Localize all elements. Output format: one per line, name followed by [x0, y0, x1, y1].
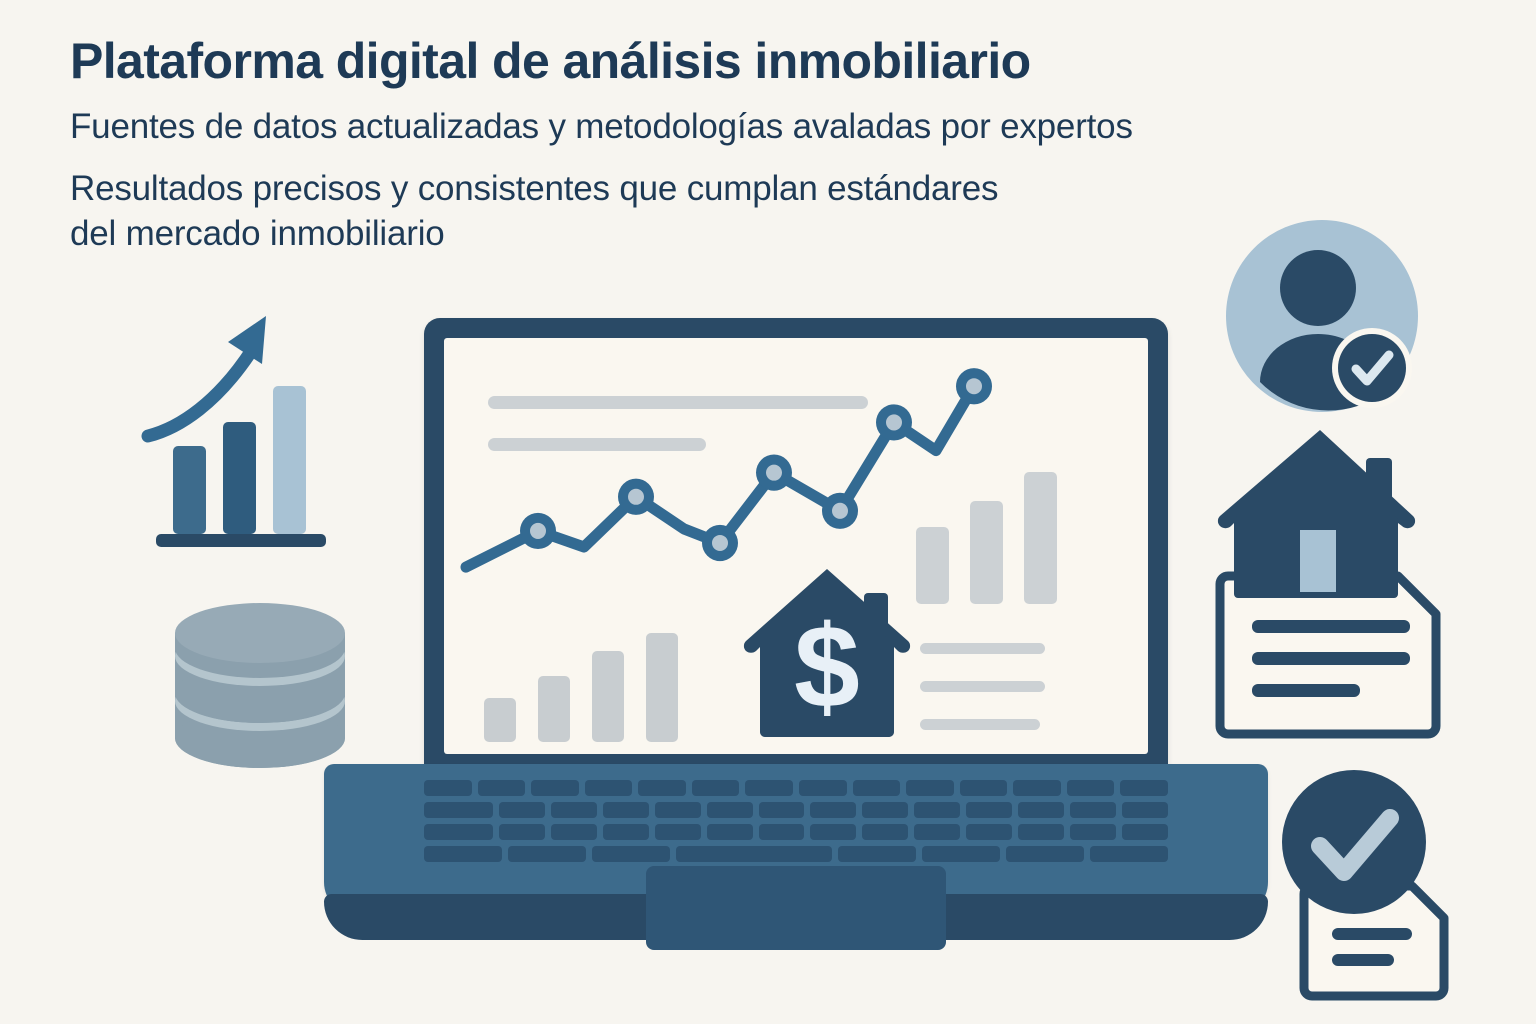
key[interactable] [424, 846, 502, 862]
key[interactable] [922, 846, 1000, 862]
key[interactable] [655, 802, 701, 818]
key[interactable] [1120, 780, 1168, 796]
key[interactable] [1070, 824, 1116, 840]
key[interactable] [603, 802, 649, 818]
doc-line-1 [1332, 928, 1412, 940]
key[interactable] [810, 824, 856, 840]
key[interactable] [759, 802, 805, 818]
doc-line-2 [1252, 652, 1410, 665]
house-dollar-icon: $ [732, 563, 922, 739]
check-badge [1282, 770, 1426, 914]
key[interactable] [966, 802, 1012, 818]
key[interactable] [862, 824, 908, 840]
key[interactable] [906, 780, 954, 796]
key[interactable] [1013, 780, 1061, 796]
key[interactable] [638, 780, 686, 796]
subtitle-line-1: Fuentes de datos actualizadas y metodolo… [70, 104, 1470, 150]
key[interactable] [551, 824, 597, 840]
key[interactable] [551, 802, 597, 818]
dollar-sign-glyph: $ [794, 601, 860, 733]
key[interactable] [603, 824, 649, 840]
house-document-icon [1198, 424, 1448, 744]
key[interactable] [424, 802, 493, 818]
key[interactable] [424, 780, 472, 796]
key[interactable] [838, 846, 916, 862]
key[interactable] [531, 780, 579, 796]
keyboard-row-4 [424, 846, 1168, 862]
key[interactable] [745, 780, 793, 796]
verified-document-icon [1276, 766, 1466, 1006]
trackpad[interactable] [646, 866, 946, 950]
key[interactable] [692, 780, 740, 796]
key[interactable] [424, 824, 493, 840]
verified-expert-avatar-icon [1222, 216, 1422, 416]
key[interactable] [799, 780, 847, 796]
key[interactable] [1122, 802, 1168, 818]
house-window [1300, 530, 1336, 592]
keyboard-row-1 [424, 780, 1168, 796]
doc-line-1 [1252, 620, 1410, 633]
laptop-keyboard[interactable] [424, 780, 1168, 862]
infographic-canvas: Plataforma digital de análisis inmobilia… [0, 0, 1536, 1024]
key[interactable] [585, 780, 633, 796]
key[interactable] [914, 824, 960, 840]
subtitle-line-2a: Resultados precisos y consistentes que c… [70, 166, 1470, 212]
key[interactable] [499, 824, 545, 840]
key[interactable] [966, 824, 1012, 840]
laptop-lid: $ [424, 318, 1168, 768]
key[interactable] [707, 824, 753, 840]
key[interactable] [759, 824, 805, 840]
check-badge [1338, 334, 1406, 402]
key[interactable] [862, 802, 908, 818]
key[interactable] [914, 802, 960, 818]
growth-bar-chart-icon [140, 306, 355, 561]
key[interactable] [478, 780, 526, 796]
key[interactable] [1070, 802, 1116, 818]
key[interactable] [508, 846, 586, 862]
key[interactable] [1090, 846, 1168, 862]
key[interactable] [1006, 846, 1084, 862]
laptop-screen[interactable]: $ [444, 338, 1148, 754]
key[interactable] [810, 802, 856, 818]
doc-line-3 [1252, 684, 1360, 697]
key[interactable] [592, 846, 670, 862]
line-chart-markers [520, 368, 992, 561]
keyboard-row-3 [424, 824, 1168, 840]
key[interactable] [707, 802, 753, 818]
keyboard-row-2 [424, 802, 1168, 818]
page-title: Plataforma digital de análisis inmobilia… [70, 34, 1470, 88]
key[interactable] [1122, 824, 1168, 840]
key[interactable] [655, 824, 701, 840]
key[interactable] [853, 780, 901, 796]
key[interactable] [499, 802, 545, 818]
key[interactable] [1018, 802, 1064, 818]
key[interactable] [960, 780, 1008, 796]
key[interactable] [1018, 824, 1064, 840]
spacebar-key[interactable] [676, 846, 832, 862]
doc-line-2 [1332, 954, 1394, 966]
laptop-device: $ [324, 318, 1268, 958]
key[interactable] [1067, 780, 1115, 796]
